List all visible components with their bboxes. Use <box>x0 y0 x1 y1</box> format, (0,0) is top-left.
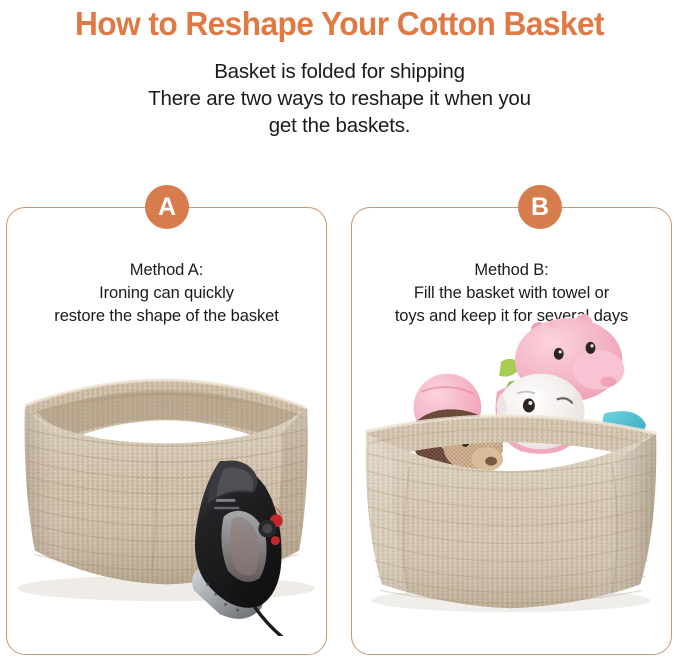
badge-b: B <box>518 185 562 229</box>
method-a-line-2: Ironing can quickly <box>7 282 326 305</box>
page-subtitle: Basket is folded for shipping There are … <box>0 58 679 139</box>
basket-with-iron-image <box>7 336 326 636</box>
method-card-b: Method B: Fill the basket with towel or … <box>351 207 672 655</box>
subtitle-line-2: There are two ways to reshape it when yo… <box>0 85 679 112</box>
page-title: How to Reshape Your Cotton Basket <box>14 4 666 44</box>
header: How to Reshape Your Cotton Basket Basket… <box>0 0 679 139</box>
method-a-caption: Method A: Ironing can quickly restore th… <box>7 259 326 328</box>
subtitle-line-1: Basket is folded for shipping <box>0 58 679 85</box>
basket-with-toys-image <box>352 294 671 644</box>
iron-cord <box>255 608 300 636</box>
method-b-line-1: Method B: <box>352 259 671 282</box>
methods-container: Method A: Ironing can quickly restore th… <box>0 207 679 659</box>
subtitle-line-3: get the baskets. <box>0 112 679 139</box>
method-a-line-3: restore the shape of the basket <box>7 305 326 328</box>
method-card-a: Method A: Ironing can quickly restore th… <box>6 207 327 655</box>
badge-a: A <box>145 185 189 229</box>
method-a-line-1: Method A: <box>7 259 326 282</box>
